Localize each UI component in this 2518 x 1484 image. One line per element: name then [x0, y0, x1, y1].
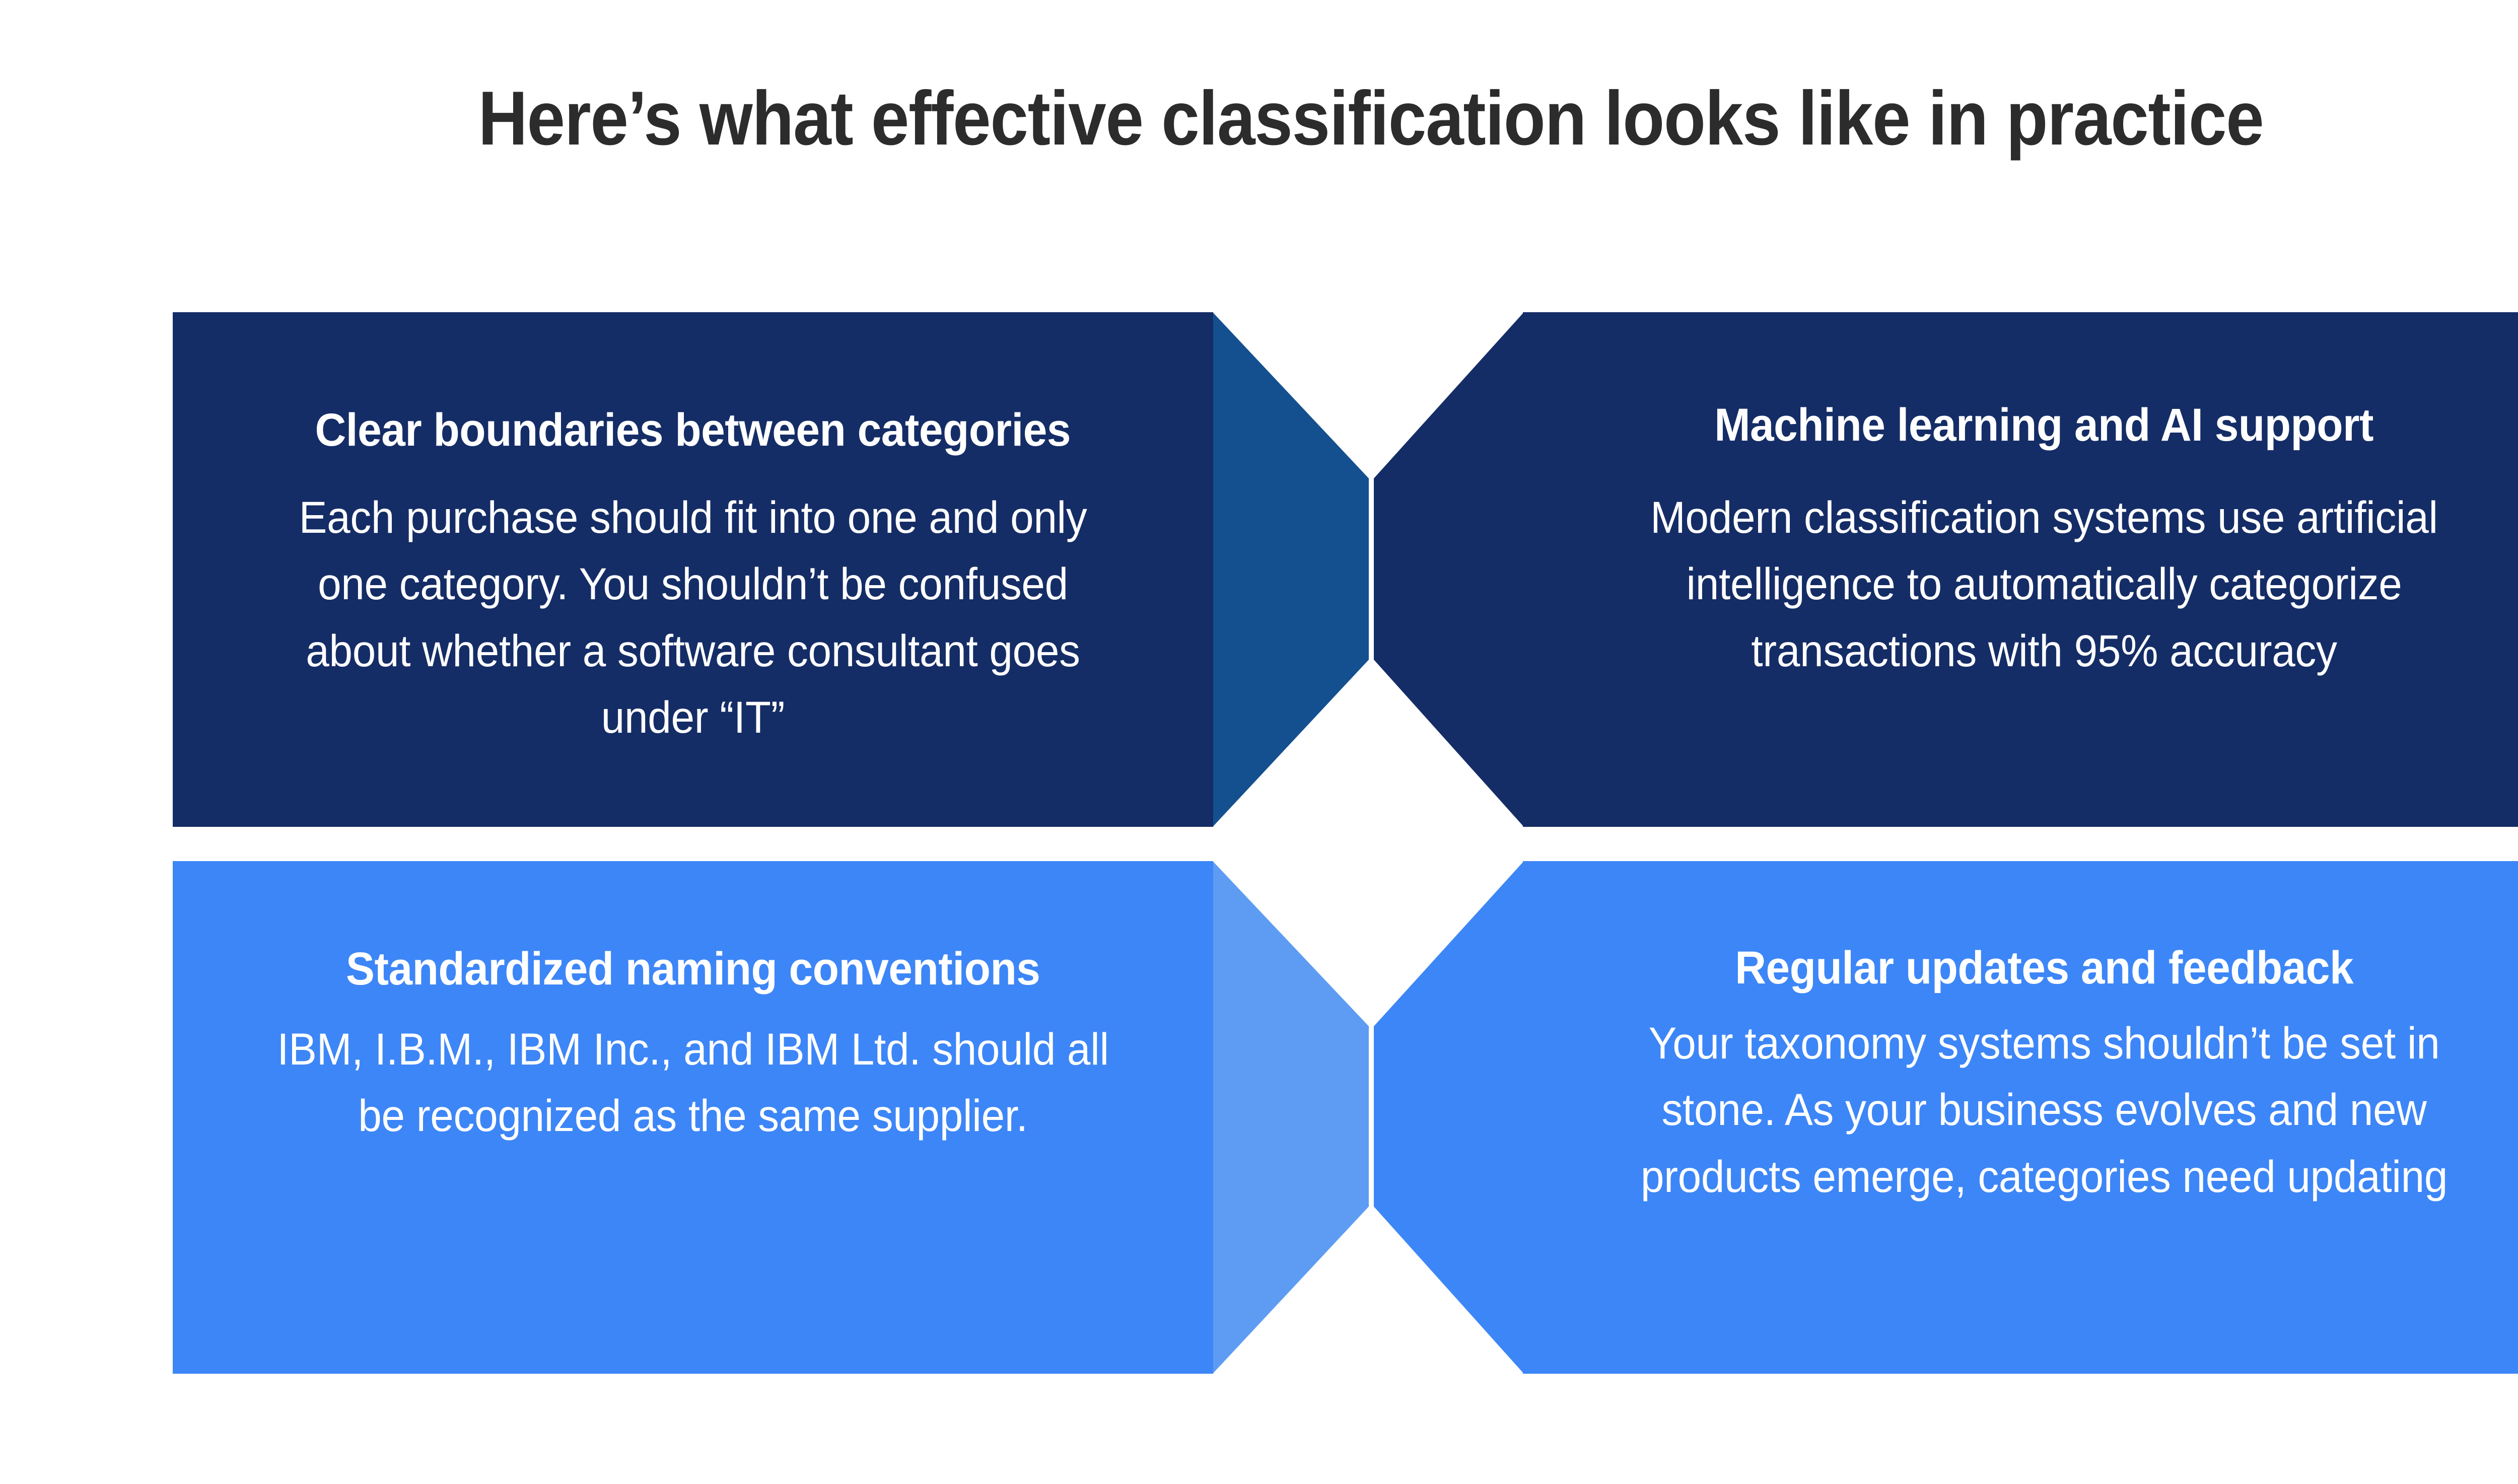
quadrant-body: Your taxonomy systems shouldn’t be set i… [1625, 1010, 2463, 1210]
bottom-right-arrow-left-icon [1374, 861, 1524, 1374]
quadrant-heading: Clear boundaries between categories [315, 403, 1071, 458]
quadrant-clear-boundaries[interactable]: Clear boundaries between categories Each… [173, 312, 1213, 827]
quadrant-regular-updates[interactable]: Regular updates and feedback Your taxono… [1523, 861, 2518, 1374]
quadrant-body: IBM, I.B.M., IBM Inc., and IBM Ltd. shou… [261, 1016, 1125, 1149]
bottom-left-arrow-right-icon [1213, 861, 1369, 1374]
quadrant-heading: Regular updates and feedback [1735, 941, 2353, 996]
quadrant-heading: Standardized naming conventions [346, 942, 1040, 997]
quadrant-standardized-naming[interactable]: Standardized naming conventions IBM, I.B… [173, 861, 1213, 1374]
top-right-arrow-left-icon [1374, 312, 1524, 827]
quadrant-machine-learning[interactable]: Machine learning and AI support Modern c… [1523, 312, 2518, 827]
four-quadrant-diagram: Clear boundaries between categories Each… [0, 0, 2518, 1484]
quadrant-body: Modern classification systems use artifi… [1625, 484, 2463, 684]
top-bowtie-connector [1213, 312, 1524, 827]
bottom-bowtie-connector [1213, 861, 1524, 1374]
top-left-arrow-right-icon [1213, 312, 1369, 827]
quadrant-body: Each purchase should fit into one and on… [261, 484, 1125, 751]
quadrant-heading: Machine learning and AI support [1715, 398, 2374, 453]
